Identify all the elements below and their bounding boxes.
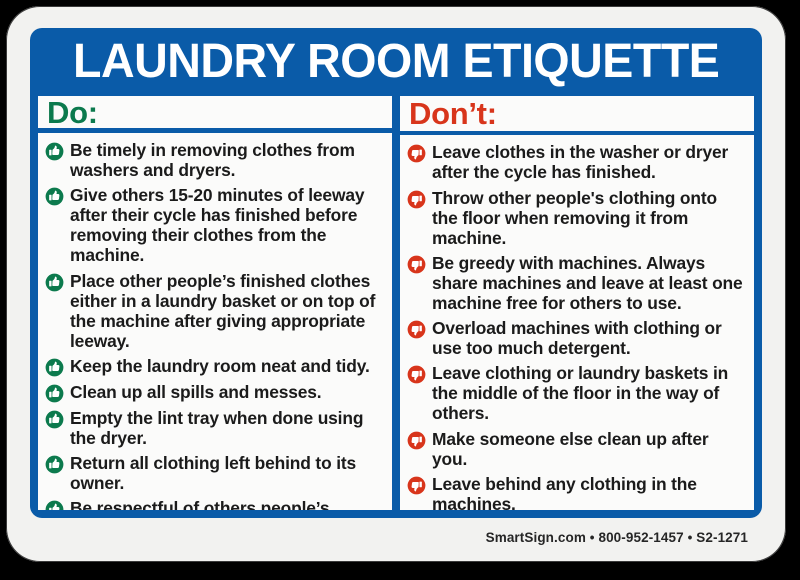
list-item-text: Leave clothing or laundry baskets in the…: [432, 363, 746, 423]
list-item: Place other people’s finished clothes ei…: [45, 271, 384, 351]
list-item: Be respectful of others people’s clothin…: [45, 498, 384, 510]
list-item-text: Be timely in removing clothes from washe…: [70, 140, 384, 180]
list-item: Throw other people's clothing onto the f…: [407, 188, 746, 248]
thumbs-up-icon: [45, 358, 64, 377]
list-item: Give others 15-20 minutes of leeway afte…: [45, 185, 384, 265]
do-column: Do: Be timely in removing clothes from w…: [38, 96, 392, 510]
page-title: LAUNDRY ROOM ETIQUETTE: [73, 38, 719, 86]
thumbs-up-icon: [45, 455, 64, 474]
list-item-text: Give others 15-20 minutes of leeway afte…: [70, 185, 384, 265]
thumbs-down-icon: [407, 320, 426, 339]
list-item: Make someone else clean up after you.: [407, 429, 746, 469]
thumbs-up-icon: [45, 187, 64, 206]
thumbs-down-icon: [407, 476, 426, 495]
list-item-text: Return all clothing left behind to its o…: [70, 453, 384, 493]
list-item-text: Clean up all spills and messes.: [70, 382, 321, 402]
list-item-text: Make someone else clean up after you.: [432, 429, 746, 469]
columns-container: Do: Be timely in removing clothes from w…: [38, 96, 754, 510]
thumbs-down-icon: [407, 431, 426, 450]
list-item-text: Keep the laundry room neat and tidy.: [70, 356, 370, 376]
list-item: Be greedy with machines. Always share ma…: [407, 253, 746, 313]
dont-column: Don’t: Leave clothes in the washer or dr…: [400, 96, 754, 510]
list-item-text: Be respectful of others people’s clothin…: [70, 498, 384, 510]
title-band: LAUNDRY ROOM ETIQUETTE: [30, 28, 762, 96]
thumbs-up-icon: [45, 410, 64, 429]
list-item-text: Throw other people's clothing onto the f…: [432, 188, 746, 248]
sign-frame: LAUNDRY ROOM ETIQUETTE Do: Be timely in …: [30, 28, 762, 518]
thumbs-up-icon: [45, 384, 64, 403]
list-item: Be timely in removing clothes from washe…: [45, 140, 384, 180]
thumbs-up-icon: [45, 273, 64, 292]
footer: SmartSign.com • 800-952-1457 • S2-1271: [30, 522, 762, 552]
list-item: Leave clothes in the washer or dryer aft…: [407, 142, 746, 182]
list-item: Leave behind any clothing in the machine…: [407, 474, 746, 510]
footer-text: SmartSign.com • 800-952-1457 • S2-1271: [486, 530, 748, 545]
dont-header-label: Don’t:: [409, 98, 497, 129]
dont-column-body: Leave clothes in the washer or dryer aft…: [400, 135, 754, 510]
list-item-text: Place other people’s finished clothes ei…: [70, 271, 384, 351]
thumbs-down-icon: [407, 255, 426, 274]
list-item-text: Be greedy with machines. Always share ma…: [432, 253, 746, 313]
list-item-text: Leave behind any clothing in the machine…: [432, 474, 746, 510]
thumbs-up-icon: [45, 142, 64, 161]
thumbs-down-icon: [407, 190, 426, 209]
list-item: Keep the laundry room neat and tidy.: [45, 356, 384, 377]
thumbs-down-icon: [407, 365, 426, 384]
do-list: Be timely in removing clothes from washe…: [45, 140, 384, 510]
thumbs-up-icon: [45, 500, 64, 510]
list-item-text: Overload machines with clothing or use t…: [432, 318, 746, 358]
list-item-text: Empty the lint tray when done using the …: [70, 408, 384, 448]
do-header-label: Do:: [47, 97, 98, 128]
list-item: Empty the lint tray when done using the …: [45, 408, 384, 448]
list-item: Overload machines with clothing or use t…: [407, 318, 746, 358]
dont-column-header: Don’t:: [400, 96, 754, 131]
dont-list: Leave clothes in the washer or dryer aft…: [407, 142, 746, 510]
list-item: Clean up all spills and messes.: [45, 382, 384, 403]
thumbs-down-icon: [407, 144, 426, 163]
sign-plate: LAUNDRY ROOM ETIQUETTE Do: Be timely in …: [6, 6, 786, 562]
do-column-header: Do:: [38, 96, 392, 128]
list-item: Return all clothing left behind to its o…: [45, 453, 384, 493]
list-item: Leave clothing or laundry baskets in the…: [407, 363, 746, 423]
list-item-text: Leave clothes in the washer or dryer aft…: [432, 142, 746, 182]
do-column-body: Be timely in removing clothes from washe…: [38, 133, 392, 510]
